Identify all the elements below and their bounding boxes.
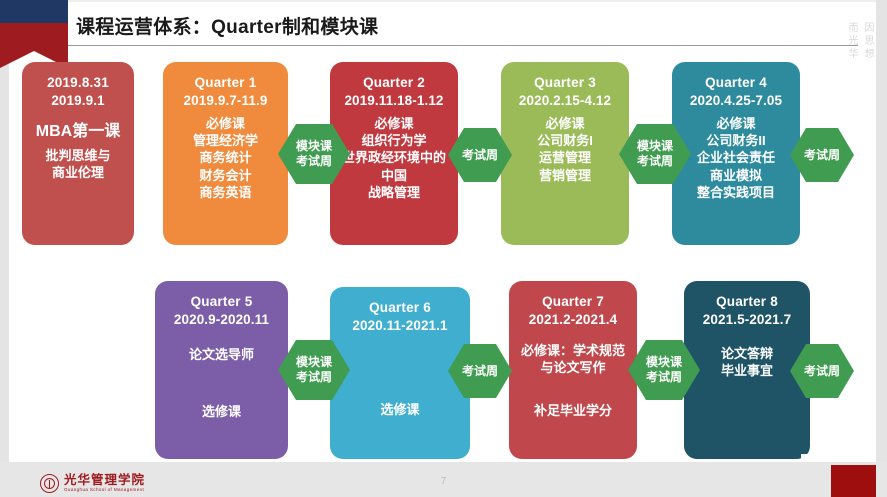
card-q7-line-3: 补足毕业学分 [534,402,612,419]
card-q4-line-5: 整合实践项目 [697,184,775,201]
frame-top-edge [0,0,887,2]
card-intro-date: 2019.9.1 [51,92,104,110]
card-intro-title: MBA第一课 [36,121,120,142]
card-q2-head: Quarter 2 [363,74,425,92]
card-q1-line-4: 财务会计 [199,167,251,184]
card-q1-date: 2019.9.7-11.9 [184,92,268,110]
card-q7-line-2: 与论文写作 [540,359,605,376]
card-q3-line-4: 营销管理 [539,167,591,184]
card-q4-line-2: 公司财务II [706,132,765,149]
card-q1-head: Quarter 1 [195,74,257,92]
crest-red-band [0,23,68,51]
card-q2-line-3: 世界政经环境中的 [342,149,446,166]
card-q5-line-1: 论文选导师 [189,346,254,363]
card-q1-line-3: 商务统计 [199,149,251,166]
crest-navy-band [0,0,68,23]
slide-canvas: 课程运营体系：Quarter制和模块课 因思想 而光华 2019.8.31 20… [0,0,887,497]
card-q5-line-2: 选修课 [202,403,241,420]
card-q7-head: Quarter 7 [542,293,604,311]
card-q1-line-5: 商务英语 [199,184,251,201]
card-q3-line-3: 运营管理 [539,149,591,166]
card-q4-head: Quarter 4 [705,74,767,92]
page-number: 7 [0,476,887,487]
footer-corner-red-block [831,465,876,497]
card-q4-line-1: 必修课 [716,115,755,132]
card-q1-line-2: 管理经济学 [193,132,258,149]
card-q8-line-1: 论文答辩 [721,345,773,362]
footer-logo-en: Guanghua School of Management [64,488,145,493]
card-quarter-6[interactable]: Quarter 6 2020.11-2021.1 选修课 [330,287,470,459]
card-q3-head: Quarter 3 [534,74,596,92]
card-q2-date: 2019.11.18-1.12 [344,92,443,110]
card-q7-date: 2021.2-2021.4 [529,311,617,329]
card-q3-line-2: 公司财务I [537,132,593,149]
card-q2-line-1: 必修课 [374,115,413,132]
card-quarter-4[interactable]: Quarter 4 2020.4.25-7.05 必修课 公司财务II 企业社会… [672,62,800,245]
card-intro-line-2: 商业伦理 [52,164,104,181]
card-q2-line-2: 组织行为学 [361,132,426,149]
frame-left-edge [0,0,9,497]
card-q6-date: 2020.11-2021.1 [352,317,447,335]
card-quarter-1[interactable]: Quarter 1 2019.9.7-11.9 必修课 管理经济学 商务统计 财… [163,62,288,245]
card-q3-date: 2020.2.15-4.12 [519,92,611,110]
card-quarter-3[interactable]: Quarter 3 2020.2.15-4.12 必修课 公司财务I 运营管理 … [501,62,629,245]
footer-corner-white-notch [801,454,831,462]
card-q2-line-5: 战略管理 [368,184,420,201]
card-q8-head: Quarter 8 [716,293,778,311]
card-q4-line-4: 商业模拟 [710,167,762,184]
card-q7-line-1: 必修课：学术规范 [521,342,625,359]
card-q8-date: 2021.5-2021.7 [703,311,791,329]
card-q4-line-3: 企业社会责任 [697,149,775,166]
card-intro-line-1: 批判思维与 [45,147,110,164]
card-q2-line-4: 中国 [381,167,407,184]
card-q8-line-2: 毕业事宜 [721,362,773,379]
card-intro-head: 2019.8.31 [47,74,109,92]
watermark-text: 因思想 而光华 [841,22,875,61]
card-q5-head: Quarter 5 [191,293,253,311]
card-q1-line-1: 必修课 [206,115,245,132]
card-q6-head: Quarter 6 [369,299,431,317]
card-q5-date: 2020.9-2020.11 [174,311,269,329]
card-q4-date: 2020.4.25-7.05 [690,92,782,110]
card-quarter-5[interactable]: Quarter 5 2020.9-2020.11 论文选导师 选修课 [155,281,288,459]
card-intro[interactable]: 2019.8.31 2019.9.1 MBA第一课 批判思维与 商业伦理 [22,62,134,245]
page-title: 课程运营体系：Quarter制和模块课 [76,12,776,39]
card-q6-line-1: 选修课 [380,401,419,418]
title-underline [68,45,858,46]
card-q3-line-1: 必修课 [545,115,584,132]
card-quarter-7[interactable]: Quarter 7 2021.2-2021.4 必修课：学术规范 与论文写作 补… [509,281,637,459]
frame-right-edge [876,0,887,497]
